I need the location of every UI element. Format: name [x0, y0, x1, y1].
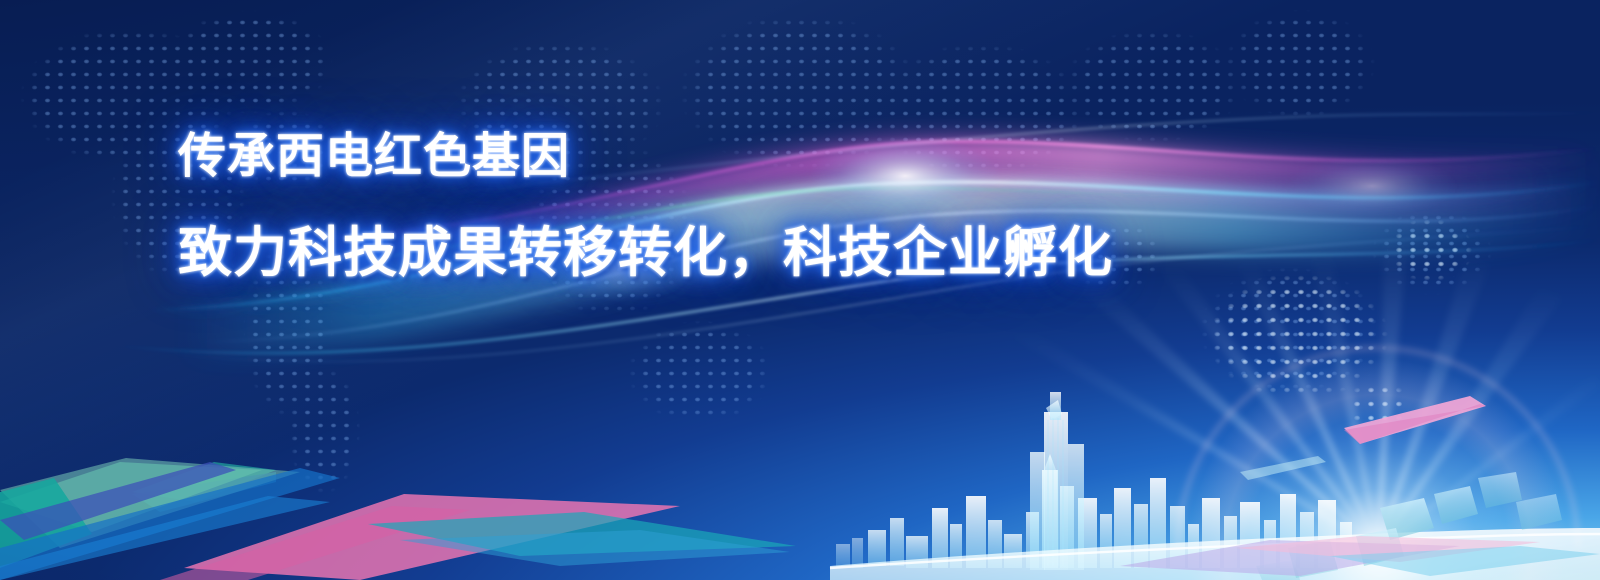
shard-mint-flying — [1240, 456, 1326, 480]
headline-line-2: 致力科技成果转移转化，科技企业孵化 — [178, 226, 1378, 280]
headline-line-1: 传承西电红色基因 — [178, 132, 1378, 180]
headline-block: 传承西电红色基因 致力科技成果转移转化，科技企业孵化 — [178, 132, 1378, 280]
geometric-shards-svg — [0, 0, 1600, 580]
geometric-shards — [0, 0, 1600, 580]
hero-banner: 传承西电红色基因 致力科技成果转移转化，科技企业孵化 — [0, 0, 1600, 580]
